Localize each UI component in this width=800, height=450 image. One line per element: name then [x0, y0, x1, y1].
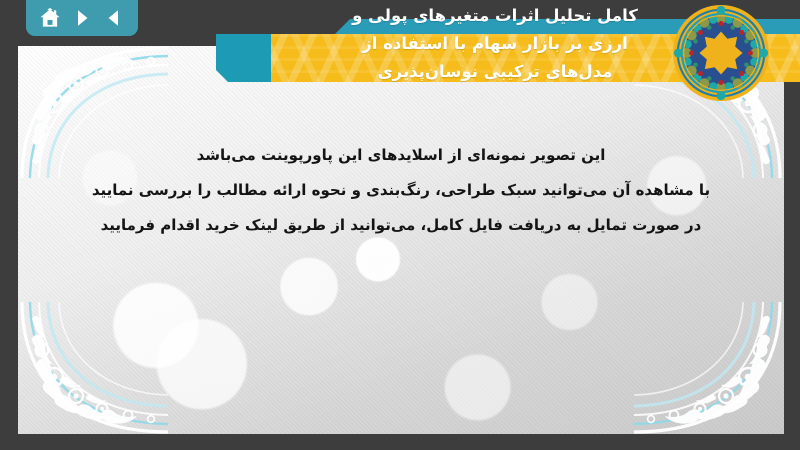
- navigation-button-group: [26, 0, 138, 36]
- circular-medallion-ornament: [672, 4, 770, 102]
- triangle-left-icon: [104, 8, 124, 28]
- triangle-right-icon: [72, 8, 92, 28]
- previous-button[interactable]: [101, 5, 127, 31]
- body-line-1: این تصویر نمونه‌ای از اسلایدهای این پاور…: [18, 138, 784, 173]
- slide-frame: این تصویر نمونه‌ای از اسلایدهای این پاور…: [18, 46, 784, 434]
- home-button[interactable]: [37, 5, 63, 31]
- home-icon: [39, 7, 61, 29]
- body-line-3: در صورت تمایل به دریافت فایل کامل، می‌تو…: [18, 208, 784, 243]
- slide-preview-stage: این تصویر نمونه‌ای از اسلایدهای این پاور…: [0, 0, 800, 450]
- next-button[interactable]: [69, 5, 95, 31]
- body-line-2: با مشاهده آن می‌توانید سبک طراحی، رنگ‌بن…: [18, 173, 784, 208]
- footer-strip: [0, 434, 800, 450]
- slide-body-text: این تصویر نمونه‌ای از اسلایدهای این پاور…: [18, 138, 784, 243]
